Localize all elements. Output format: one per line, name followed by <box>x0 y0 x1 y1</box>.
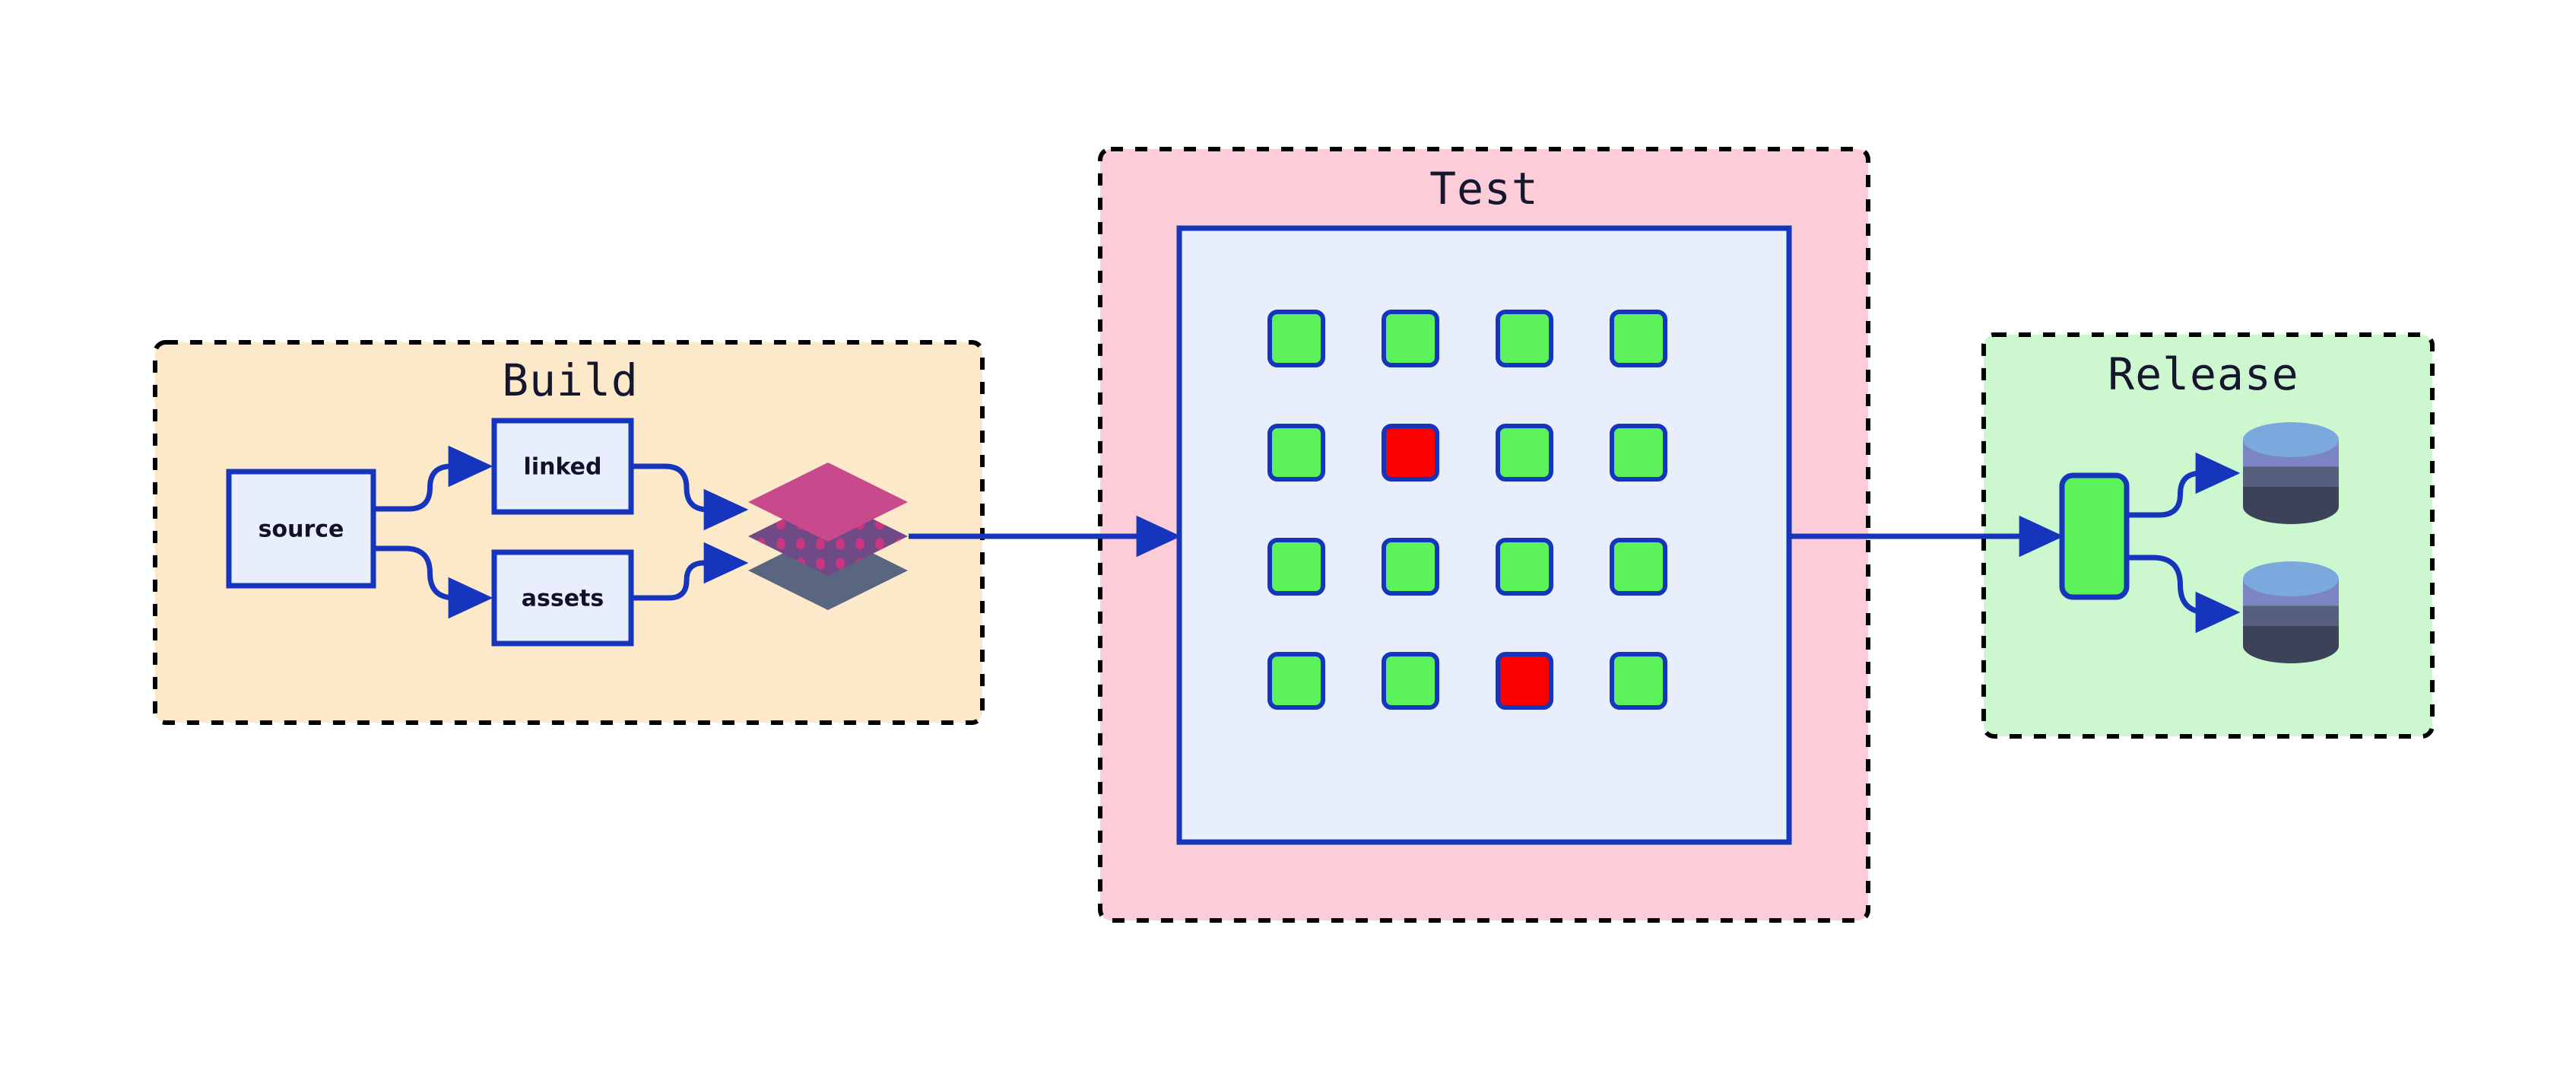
test-cell-fail-r2c2[interactable] <box>1384 426 1437 479</box>
node-source[interactable]: source <box>229 472 373 586</box>
test-cell-pass-r1c3[interactable] <box>1498 312 1551 365</box>
test-cell-pass-r4c1[interactable] <box>1270 654 1323 707</box>
node-deploy[interactable] <box>2062 475 2127 597</box>
db-top <box>2243 561 2339 596</box>
test-cell-pass-r3c1[interactable] <box>1270 540 1323 593</box>
test-cell-pass-r4c2[interactable] <box>1384 654 1437 707</box>
node-linked[interactable]: linked <box>494 421 631 512</box>
test-cell-pass-r3c3[interactable] <box>1498 540 1551 593</box>
test-cell-pass-r2c3[interactable] <box>1498 426 1551 479</box>
pipeline-diagram: sourcelinkedassets BuildTestRelease <box>0 0 2576 1068</box>
test-cell-pass-r3c4[interactable] <box>1612 540 1665 593</box>
node-assets[interactable]: assets <box>494 552 631 644</box>
test-cell-pass-r4c4[interactable] <box>1612 654 1665 707</box>
test-cell-pass-r1c4[interactable] <box>1612 312 1665 365</box>
db-base <box>2243 489 2339 524</box>
phase-title-release: Release <box>2108 348 2298 400</box>
test-cell-fail-r4c3[interactable] <box>1498 654 1551 707</box>
database-icon <box>2243 561 2339 663</box>
db-band-2 <box>2243 466 2339 486</box>
test-cell-pass-r1c2[interactable] <box>1384 312 1437 365</box>
db-top <box>2243 422 2339 457</box>
node-linked-label: linked <box>524 454 602 481</box>
node-assets-label: assets <box>522 586 604 612</box>
diagram-canvas: sourcelinkedassets BuildTestRelease <box>0 0 2576 1068</box>
test-cell-pass-r3c2[interactable] <box>1384 540 1437 593</box>
db-base <box>2243 628 2339 663</box>
phase-title-test: Test <box>1429 163 1539 215</box>
test-cell-pass-r2c4[interactable] <box>1612 426 1665 479</box>
database-icon <box>2243 422 2339 524</box>
db-band-2 <box>2243 606 2339 625</box>
node-source-label: source <box>259 517 344 543</box>
test-cell-pass-r2c1[interactable] <box>1270 426 1323 479</box>
phase-title-build: Build <box>502 354 639 406</box>
test-cell-pass-r1c1[interactable] <box>1270 312 1323 365</box>
node-deploy-shape[interactable] <box>2062 475 2127 597</box>
